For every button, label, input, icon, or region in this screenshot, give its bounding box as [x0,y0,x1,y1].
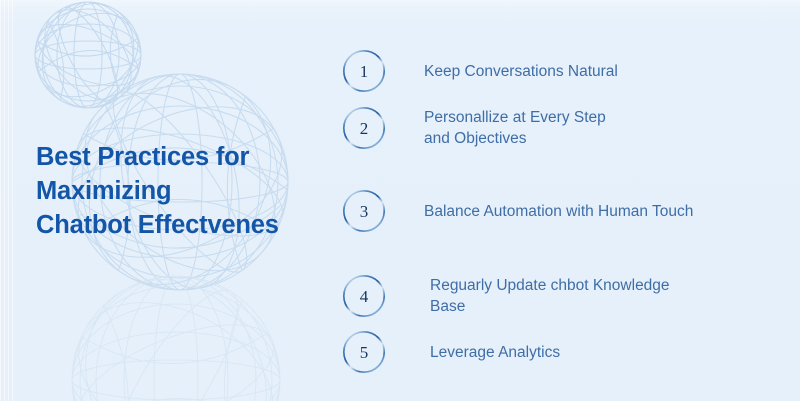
step-number-1: 1 [360,63,369,80]
step-number-3: 3 [360,203,369,220]
page-title: Best Practices for Maximizing Chatbot Ef… [36,140,336,242]
list-item-text-3: Balance Automation with Human Touch [424,201,693,222]
step-number-badge-1: 1 [342,49,386,93]
infographic-slide: Best Practices for Maximizing Chatbot Ef… [0,0,800,401]
list-item[interactable]: 4 Reguarly Update chbot Knowledge Base [342,274,670,318]
step-number-badge-5: 5 [342,330,386,374]
step-number-2: 2 [360,120,369,137]
list-item[interactable]: 5 Leverage Analytics [342,330,560,374]
list-item-text-4: Reguarly Update chbot Knowledge Base [430,275,670,317]
step-number-badge-3: 3 [342,189,386,233]
globe-small-top [23,0,152,122]
page-title-line-1: Best Practices for [36,140,336,174]
step-number-5: 5 [360,344,369,361]
step-number-4: 4 [360,288,369,305]
list-item[interactable]: 2 Personallize at Every Step and Objecti… [342,106,606,150]
page-title-line-3: Chatbot Effectvenes [36,208,336,242]
list-item-text-1: Keep Conversations Natural [424,61,618,82]
step-number-badge-4: 4 [342,274,386,318]
list-item[interactable]: 1 Keep Conversations Natural [342,49,618,93]
step-number-badge-2: 2 [342,106,386,150]
list-item-text-5: Leverage Analytics [430,342,560,363]
list-item-text-2: Personallize at Every Step and Objective… [424,107,606,149]
best-practices-list: 1 Keep Conversations Natural 2 Personall… [336,0,800,401]
list-item[interactable]: 3 Balance Automation with Human Touch [342,189,693,233]
globe-faint-bottom [51,248,301,401]
page-title-line-2: Maximizing [36,174,336,208]
